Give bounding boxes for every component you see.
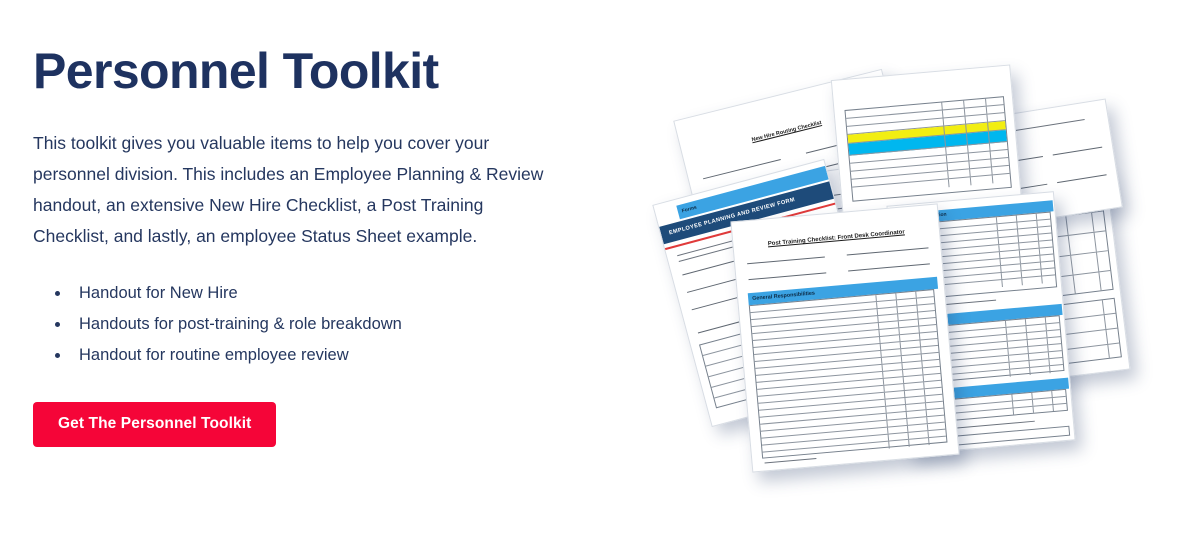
page-title: Personnel Toolkit: [33, 44, 593, 98]
hero-copy-column: Personnel Toolkit This toolkit gives you…: [33, 44, 593, 447]
list-item: Handouts for post-training & role breakd…: [55, 309, 593, 340]
document-table: [749, 289, 948, 459]
list-item: Handout for New Hire: [55, 278, 593, 309]
feature-list: Handout for New Hire Handouts for post-t…: [33, 278, 593, 371]
hero-description: This toolkit gives you valuable items to…: [33, 128, 563, 252]
list-item: Handout for routine employee review: [55, 340, 593, 371]
toolkit-documents-image: New Hire Routing Checklist Forms EMPLOYE…: [655, 70, 1125, 450]
hero-section: Personnel Toolkit This toolkit gives you…: [0, 0, 1190, 548]
document-post-training-checklist: Post Training Checklist: Front Desk Coor…: [730, 203, 959, 472]
document-table: [844, 96, 1011, 202]
document-title: Post Training Checklist: Front Desk Coor…: [733, 226, 939, 250]
get-the-personnel-toolkit-button[interactable]: Get The Personnel Toolkit: [33, 402, 276, 447]
